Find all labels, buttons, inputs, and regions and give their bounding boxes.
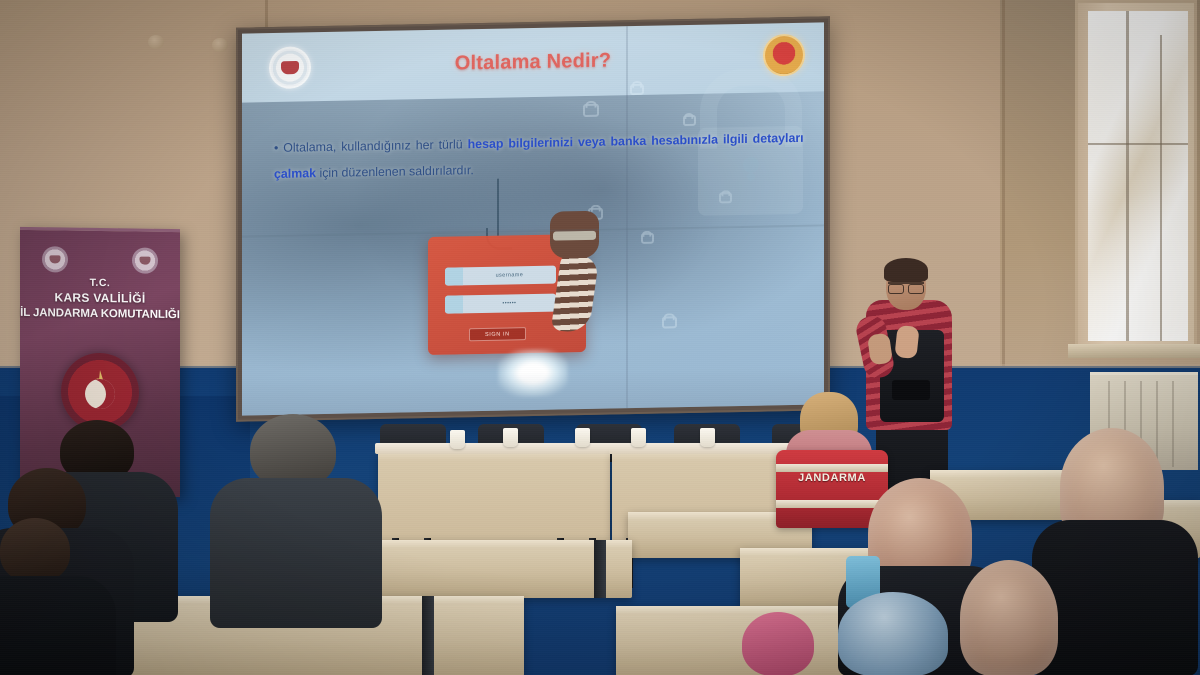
presenter-hand (894, 325, 919, 359)
paper-cup (450, 430, 465, 449)
username-value: username (463, 271, 556, 279)
bullet-marker: • (274, 141, 278, 155)
padlock-icon (630, 84, 644, 95)
kars-province-seal-icon (132, 247, 158, 273)
presenter-hair (884, 258, 928, 282)
emblem-crescent-icon (85, 378, 115, 408)
paper-cup (503, 428, 518, 447)
headscarf (838, 592, 948, 675)
window-mullion (1126, 11, 1129, 341)
presenter-hand (867, 333, 893, 366)
wall-fixture-icon (148, 35, 164, 49)
slide-text-part-3: için düzenlenen saldırılardır. (316, 163, 474, 180)
vest-label: JANDARMA (776, 472, 888, 484)
window-sill (1068, 344, 1200, 358)
wall-seam (1002, 0, 1005, 400)
lock-icon (445, 295, 463, 313)
banner-line-3: İL JANDARMA KOMUTANLIĞI (20, 306, 180, 323)
headscarf (960, 560, 1058, 675)
slide-body-text: • Oltalama, kullandığınız her türlü hesa… (274, 126, 804, 187)
window-transom (1088, 143, 1188, 145)
window (1075, 0, 1197, 352)
padlock-icon (583, 104, 599, 117)
reflective-stripe (776, 464, 888, 472)
banner-title: T.C. KARS VALİLİĞİ İL JANDARMA KOMUTANLI… (20, 276, 180, 323)
paper-cup (700, 428, 715, 447)
slide-text-part-1: Oltalama, kullandığınız her türlü (283, 137, 467, 155)
window-curtain (1088, 11, 1188, 341)
padlock-icon (683, 115, 696, 126)
sign-in-button: SIGN IN (469, 327, 526, 341)
front-table (378, 452, 610, 540)
password-field: •••••• (445, 294, 556, 314)
fishing-hook-icon (497, 179, 500, 236)
wall-fixture-icon (212, 38, 228, 52)
projection-screen: Oltalama Nedir? • Oltalama, kullandığını… (236, 16, 830, 421)
paper-cup (575, 428, 590, 447)
window-glass (1088, 11, 1188, 341)
username-field: username (445, 265, 556, 285)
glasses-icon (888, 282, 924, 290)
vest-pouch (892, 380, 930, 400)
paper-cup (631, 428, 646, 447)
password-value: •••••• (463, 300, 556, 308)
projected-slide: Oltalama Nedir? • Oltalama, kullandığını… (242, 22, 824, 415)
window-mullion (1160, 35, 1162, 341)
thief-figure (550, 211, 599, 259)
reflective-stripe (776, 500, 888, 508)
seminar-photograph: Oltalama Nedir? • Oltalama, kullandığını… (0, 0, 1200, 675)
ministry-seal-icon (42, 246, 68, 272)
screen-seam (626, 26, 628, 408)
user-icon (445, 267, 463, 285)
